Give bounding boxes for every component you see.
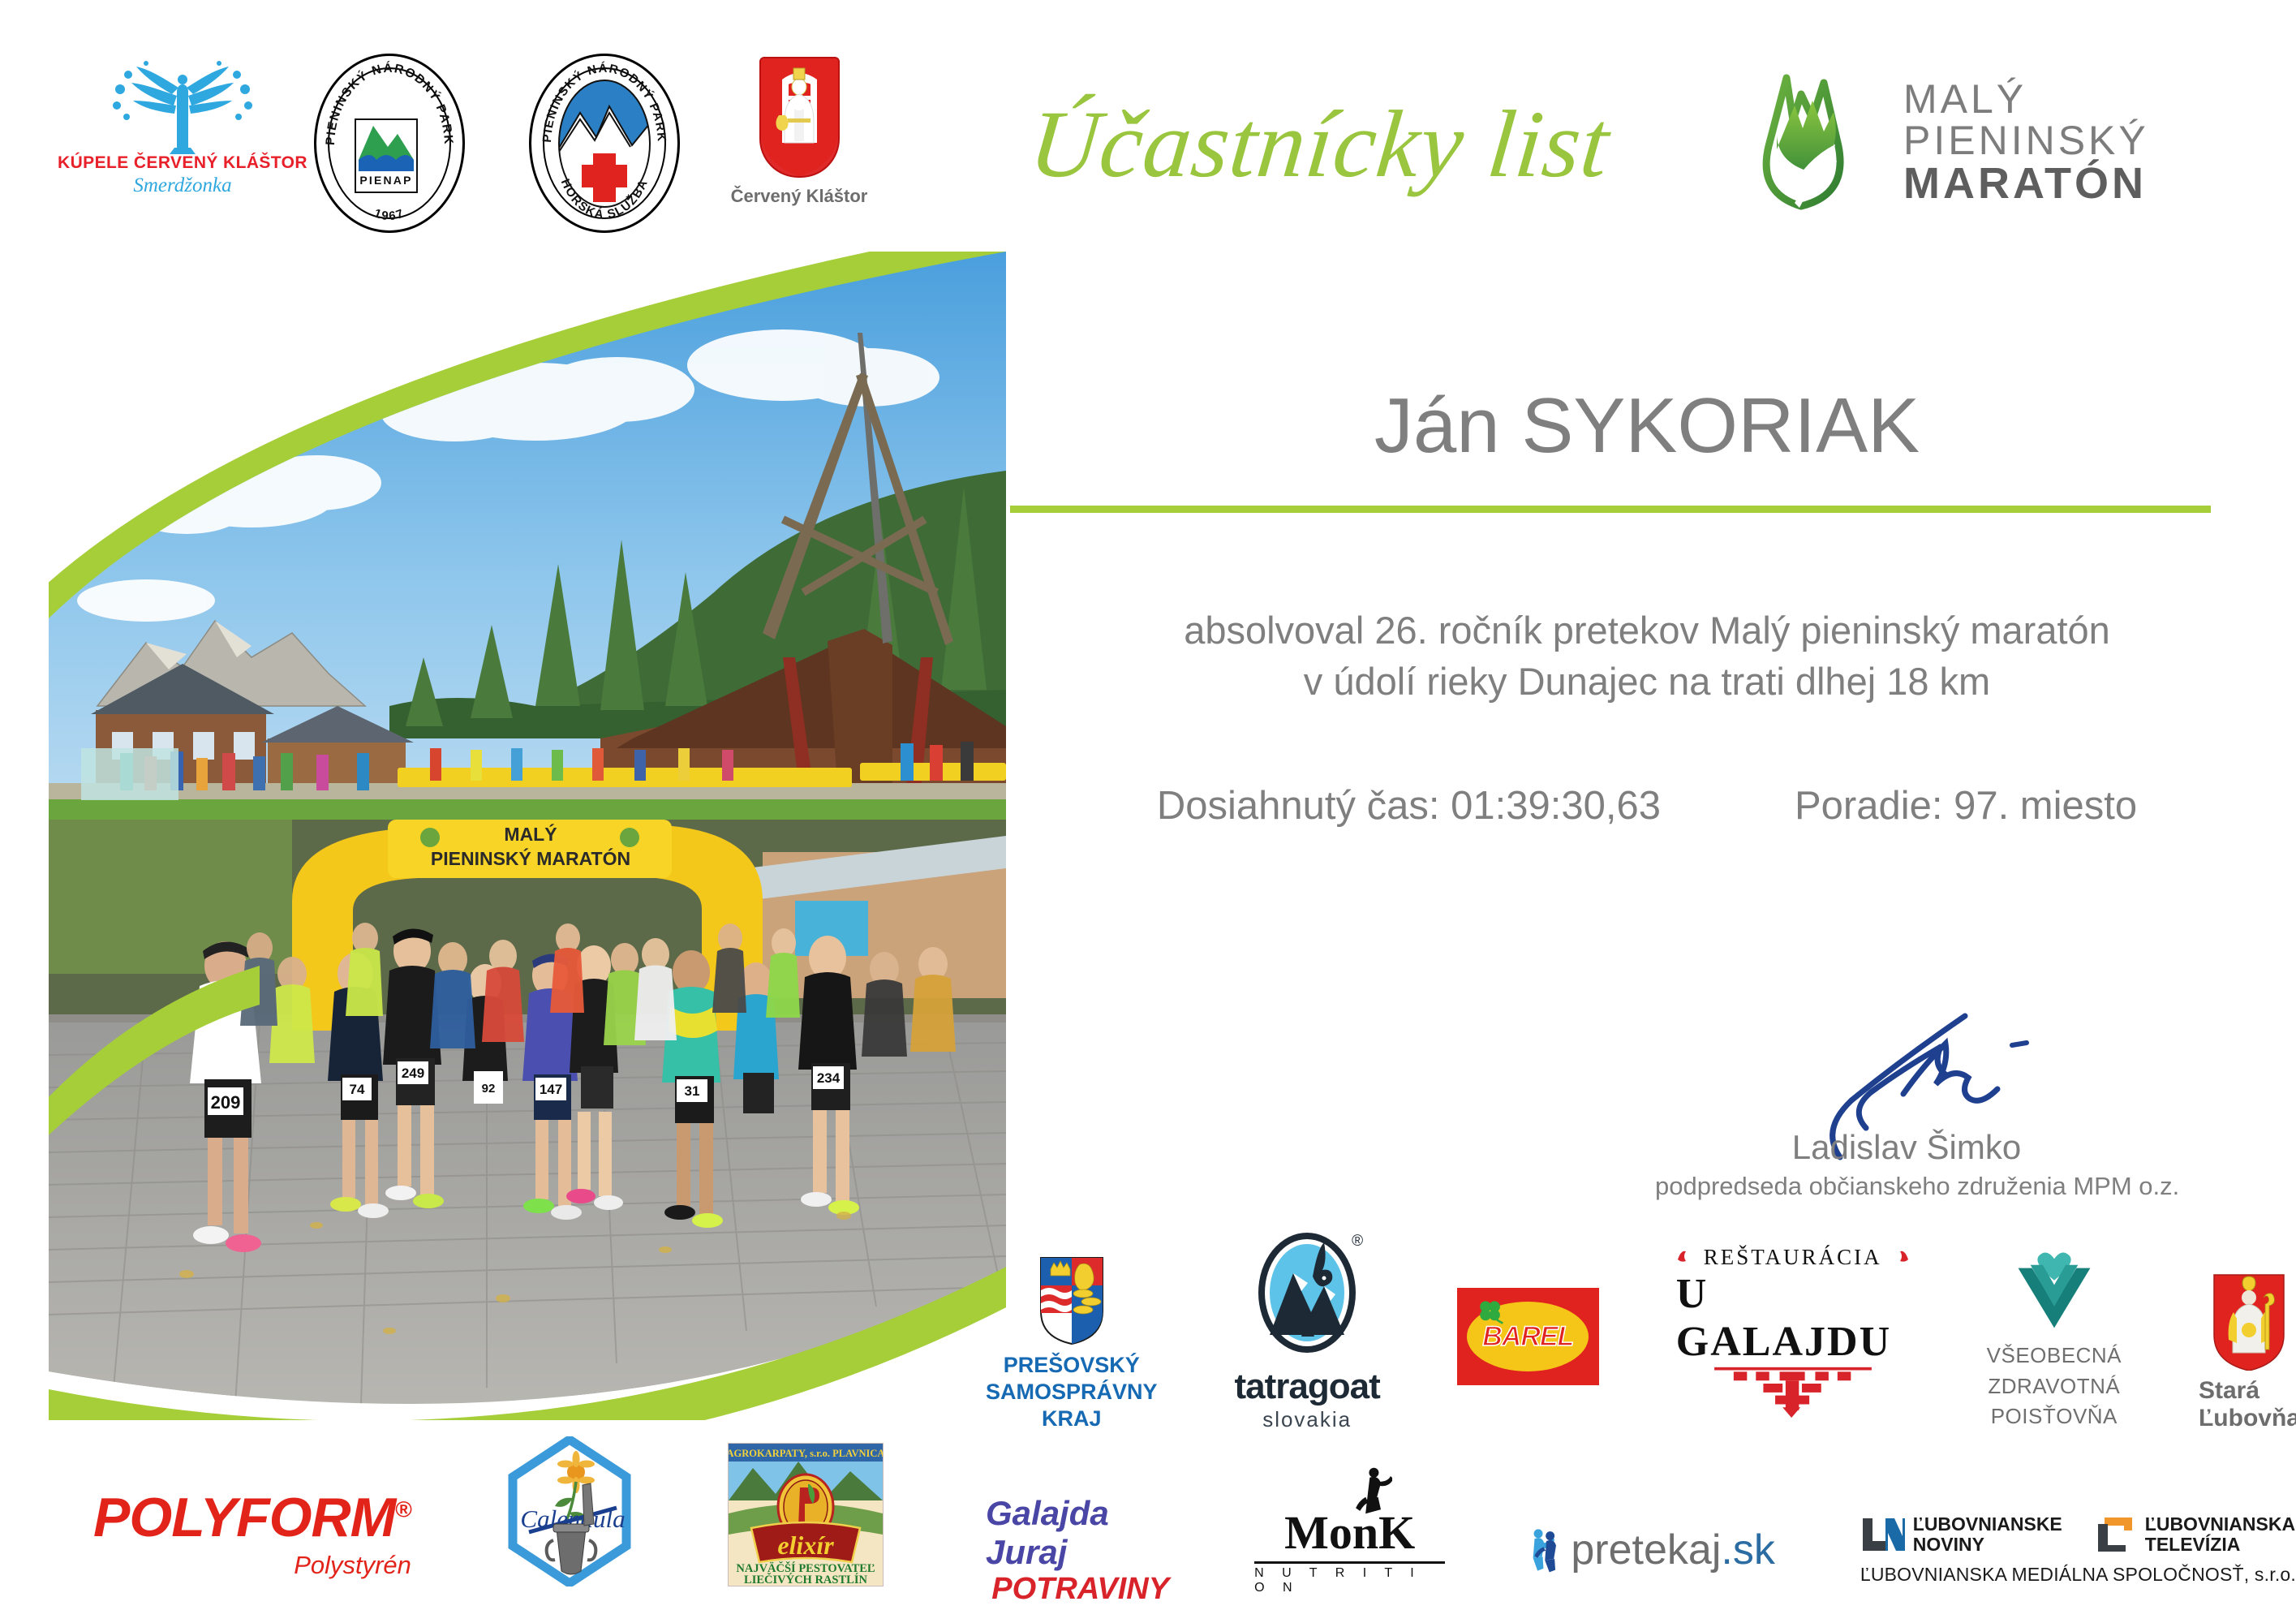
sponsors-row-primary: PREŠOVSKÝ SAMOSPRÁVNY KRAJ ® tat: [986, 1229, 2296, 1432]
sponsor-caption: MonK: [1284, 1505, 1415, 1560]
svg-text:249: 249: [402, 1065, 424, 1081]
sponsor-caption: PREŠOVSKÝ SAMOSPRÁVNY KRAJ: [986, 1352, 1158, 1432]
svg-text:MALÝ: MALÝ: [504, 823, 557, 845]
logo-kupele-cerveny-klastor: KÚPELE ČERVENÝ KLÁŠTOR Smerdžonka: [81, 57, 284, 197]
start-line-photo: MALÝ PIENINSKÝ MARATÓN 209: [49, 811, 1006, 1405]
barel-oval: BAREL: [1467, 1302, 1589, 1371]
svg-text:147: 147: [540, 1082, 562, 1097]
two-runners-icon: [1530, 1527, 1564, 1573]
partner-logos-strip: KÚPELE ČERVENÝ KLÁŠTOR Smerdžonka PIENIN…: [69, 57, 961, 243]
clover-icon: [1477, 1298, 1504, 1326]
logo-label: Červený Kláštor: [731, 186, 868, 207]
caption-line: ZDRAVOTNÁ: [1987, 1371, 2122, 1402]
venue-photo: [49, 252, 1006, 839]
certificate-page: KÚPELE ČERVENÝ KLÁŠTOR Smerdžonka PIENIN…: [0, 0, 2296, 1623]
sponsor-caption-text: POLYFORM: [93, 1487, 395, 1548]
sponsor-caption-text: pretekaj: [1571, 1526, 1721, 1573]
sponsor-stara-lubovna: Stará Ľubovňa: [2199, 1273, 2296, 1432]
event-logo-text: MALÝ PIENINSKÝ MARATÓN: [1903, 79, 2149, 206]
trademark-symbol: ®: [1352, 1233, 1363, 1251]
chamois-mountain-oval-icon: [1254, 1228, 1360, 1358]
sponsor-restauracia-u-galajdu: REŠTAURÁCIA U GALAJDU: [1676, 1245, 1910, 1432]
sponsor-caption: pretekaj.sk: [1571, 1526, 1774, 1574]
caption-line: VŠEOBECNÁ: [1987, 1341, 2122, 1371]
collage-svg: MALÝ PIENINSKÝ MARATÓN 209: [49, 252, 1006, 1420]
logo-horska-sluzba: PIENINSKÝ NÁRODNÝ PARK HORSKÁ SLUŽBA: [523, 54, 686, 233]
logo-pieninsky-narodny-park: PIENINSKÝ NÁRODNÝ PARK 1967 PIENAP: [308, 54, 471, 233]
agro-caption-bottom2: LIEČIVÝCH RASTLÍN: [744, 1573, 867, 1586]
sponsor-lubovnianske-noviny: ĽUBOVNIANSKE NOVINY: [1861, 1514, 2062, 1554]
barel-logo: BAREL: [1457, 1288, 1599, 1385]
folk-ornament-icon: [1676, 1248, 1696, 1268]
svg-text:PIENAP: PIENAP: [359, 174, 412, 187]
caption-line: PREŠOVSKÝ: [986, 1352, 1158, 1379]
sponsor-caption: ĽUBOVNIANSKE NOVINY: [1913, 1514, 2062, 1554]
water-angel-icon: [97, 57, 268, 150]
signature-role: podpredseda občianskeho združenia MPM o.…: [1655, 1172, 2158, 1201]
mortar-and-flower-icon: Calendula: [505, 1436, 634, 1586]
oval-seal-icon: PIENINSKÝ NÁRODNÝ PARK 1967 PIENAP: [314, 54, 465, 233]
sponsor-company-caption: ĽUBOVNIANSKA MEDIÁLNA SPOLOČNOSŤ, s.r.o.: [1860, 1564, 2296, 1586]
sponsor-presovsky-samospravny-kraj: PREŠOVSKÝ SAMOSPRÁVNY KRAJ: [986, 1256, 1158, 1432]
svg-text:1967: 1967: [372, 206, 407, 223]
logo-obec-cerveny-klastor: Červený Kláštor: [718, 57, 880, 207]
orange-bracket-icon: [2096, 1516, 2137, 1553]
caption-line: KRAJ: [986, 1406, 1158, 1432]
teal-v-heart-icon: [2012, 1248, 2096, 1332]
logo-title: KÚPELE ČERVENÝ KLÁŠTOR: [58, 153, 307, 173]
caption-line: TELEVÍZIA: [2145, 1535, 2295, 1554]
sponsor-tatragoat: ® tatragoat slovakia: [1235, 1228, 1380, 1432]
agro-caption-main: elixír: [777, 1530, 834, 1560]
sponsor-caption: POLYFORM®: [93, 1486, 411, 1549]
svg-text:92: 92: [482, 1082, 496, 1096]
result-rank: Poradie: 97. miesto: [1795, 783, 2137, 829]
oval-seal-mountain-cross-icon: PIENINSKÝ NÁRODNÝ PARK HORSKÁ SLUŽBA: [529, 54, 680, 233]
sponsor-lubovnianska-televizia: ĽUBOVNIANSKA TELEVÍZIA: [2096, 1514, 2295, 1554]
sponsor-caption-sub: N U T R I T I O N: [1254, 1561, 1445, 1595]
page-title: Účastnícky list: [1025, 89, 1615, 200]
participant-name: Ján SYKORIAK: [1014, 381, 2280, 471]
ln-monogram-icon: [1861, 1517, 1905, 1552]
sponsor-barel: BAREL: [1457, 1288, 1599, 1432]
event-logo-line1: MALÝ: [1903, 79, 2149, 120]
title-divider: [1010, 506, 2211, 513]
sponsor-calendula: Calendula: [505, 1436, 634, 1586]
sponsor-galajda-juraj: Galajda Juraj POTRAVINY: [986, 1494, 1169, 1607]
sponsors-row-secondary: Galajda Juraj POTRAVINY MonK N U T R I T…: [986, 1489, 2296, 1611]
sponsor-caption: VŠEOBECNÁ ZDRAVOTNÁ POISŤOVŇA: [1987, 1341, 2122, 1432]
result-time: Dosiahnutý čas: 01:39:30,63: [1157, 783, 1661, 829]
quartered-shield-icon: [1039, 1256, 1104, 1345]
sponsor-caption: tatragoat: [1235, 1367, 1380, 1407]
svg-text:74: 74: [350, 1082, 365, 1097]
coat-of-arms-monk-icon: [759, 57, 840, 178]
svg-text:31: 31: [685, 1083, 700, 1099]
folk-ornament-icon: [1890, 1248, 1910, 1268]
coat-of-arms-bishop-icon: [2212, 1273, 2285, 1371]
caption-line: SAMOSPRÁVNY: [986, 1379, 1158, 1406]
sponsor-monk-nutrition: MonK N U T R I T I O N: [1254, 1505, 1445, 1595]
svg-text:209: 209: [211, 1092, 241, 1113]
svg-text:234: 234: [817, 1070, 841, 1086]
agro-caption-top: AGROKARPATY, s.r.o. PLAVNICA: [729, 1448, 883, 1459]
green-mountain-leaf-icon: [1752, 71, 1882, 213]
sponsor-caption: ĽUBOVNIANSKA TELEVÍZIA: [2145, 1514, 2295, 1554]
svg-text:PIENINSKÝ NÁRODNÝ PARK: PIENINSKÝ NÁRODNÝ PARK: [324, 62, 455, 146]
sponsor-vseobecna-zdravotna-poistovna: VŠEOBECNÁ ZDRAVOTNÁ POISŤOVŇA: [1987, 1248, 2122, 1432]
caption-line: POISŤOVŇA: [1987, 1401, 2122, 1432]
signature-block: Ladislav Šimko podpredseda občianskeho z…: [1655, 1006, 2158, 1201]
sponsor-caption-sub: slovakia: [1262, 1407, 1352, 1432]
result-summary: Dosiahnutý čas: 01:39:30,63 Poradie: 97.…: [1014, 783, 2280, 829]
caption-line: NOVINY: [1913, 1535, 2062, 1554]
sponsor-caption-tld: .sk: [1721, 1526, 1774, 1573]
caption-line: ĽUBOVNIANSKE: [1913, 1514, 2062, 1534]
event-logo-line3: MARATÓN: [1903, 161, 2149, 206]
logo-subtitle: Smerdžonka: [133, 174, 231, 197]
folk-ornament-band-icon: [1704, 1366, 1882, 1418]
event-logo: MALÝ PIENINSKÝ MARATÓN: [1752, 71, 2149, 213]
sponsor-polyform: POLYFORM® Polystyrén: [93, 1486, 411, 1586]
description-line2: v údolí rieky Dunajec na trati dlhej 18 …: [1014, 656, 2280, 707]
sponsor-caption-sub: POTRAVINY: [986, 1572, 1169, 1607]
sponsor-agrokarpaty-elixir: AGROKARPATY, s.r.o. PLAVNICA elixír NAJV…: [728, 1443, 884, 1586]
photo-collage: MALÝ PIENINSKÝ MARATÓN 209: [49, 252, 1006, 1420]
sponsor-caption-sub: Polystyrén: [294, 1551, 411, 1580]
sponsor-lubovnianska-medialna: ĽUBOVNIANSKE NOVINY ĽUBOVNIANSKA TELEVÍZ…: [1860, 1514, 2296, 1586]
sponsor-caption: U GALAJDU: [1676, 1270, 1910, 1366]
description-line1: absolvoval 26. ročník pretekov Malý pien…: [1014, 605, 2280, 656]
svg-text:PIENINSKÝ MARATÓN: PIENINSKÝ MARATÓN: [431, 847, 630, 869]
sponsor-pretekaj-sk: pretekaj.sk: [1530, 1526, 1774, 1574]
certificate-description: absolvoval 26. ročník pretekov Malý pien…: [1014, 605, 2280, 708]
event-logo-line2: PIENINSKÝ: [1903, 120, 2149, 161]
sponsor-caption-top: REŠTAURÁCIA: [1704, 1245, 1882, 1270]
sponsors-row-bottom-left: POLYFORM® Polystyrén: [93, 1408, 884, 1586]
trademark-symbol: ®: [395, 1496, 411, 1522]
sponsor-caption: Stará Ľubovňa: [2199, 1377, 2296, 1432]
agrokarpaty-label-icon: AGROKARPATY, s.r.o. PLAVNICA elixír NAJV…: [728, 1443, 884, 1586]
caption-line: ĽUBOVNIANSKA: [2145, 1514, 2295, 1534]
signature-name: Ladislav Šimko: [1655, 1128, 2158, 1167]
sponsor-caption: Galajda Juraj: [986, 1494, 1169, 1572]
